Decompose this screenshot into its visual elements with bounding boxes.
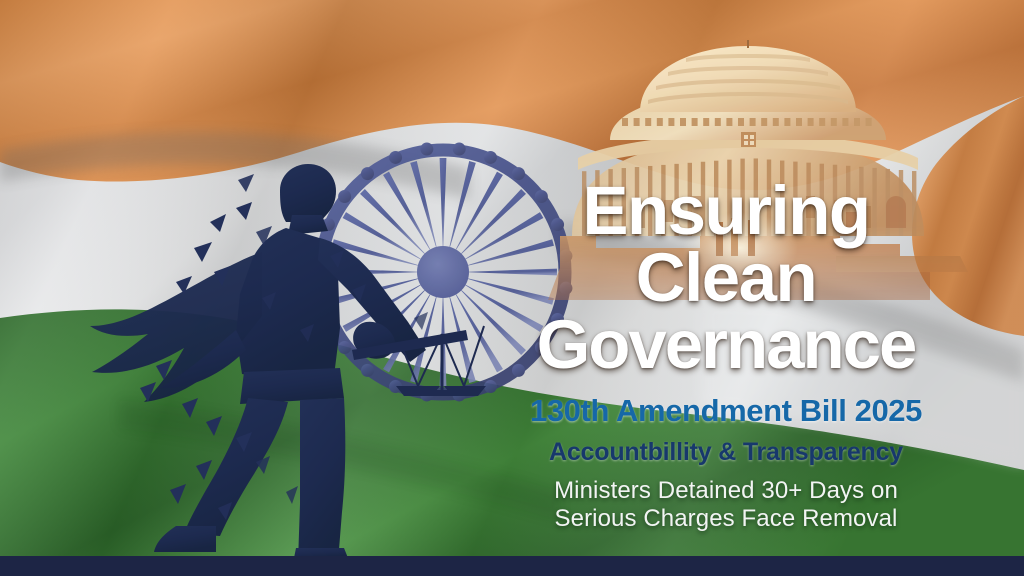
poster-copy-block: Ensuring Clean Governance 130th Amendmen…	[492, 178, 960, 533]
headline-line-3: Governance	[492, 312, 960, 379]
detail-line-1: Ministers Detained 30+ Days on	[492, 477, 960, 505]
tagline: Accountbillity & Transparency	[492, 438, 960, 467]
headline-line-1: Ensuring	[492, 178, 960, 245]
detail-text: Ministers Detained 30+ Days on Serious C…	[492, 477, 960, 534]
detail-line-2: Serious Charges Face Removal	[492, 505, 960, 533]
headline-line-2: Clean	[492, 245, 960, 312]
bottom-navy-bar	[0, 556, 1024, 576]
silhouette-back-leg	[298, 398, 345, 562]
silhouette-head	[280, 164, 336, 222]
poster-canvas: Ensuring Clean Governance 130th Amendmen…	[0, 0, 1024, 576]
bill-label: 130th Amendment Bill 2025	[492, 393, 960, 429]
